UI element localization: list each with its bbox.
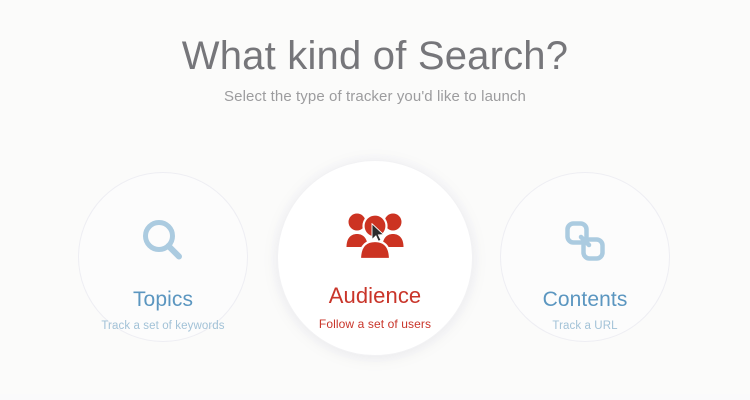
option-card-topics[interactable]: Topics Track a set of keywords [78, 172, 248, 342]
option-card-subtitle: Track a set of keywords [101, 321, 224, 333]
link-chain-icon [560, 205, 610, 277]
option-card-title: Audience [329, 285, 422, 307]
option-card-contents[interactable]: Contents Track a URL [500, 172, 670, 342]
option-card-subtitle: Follow a set of users [319, 318, 431, 330]
page-title: What kind of Search? [0, 34, 750, 78]
header: What kind of Search? Select the type of … [0, 34, 750, 105]
search-icon [137, 205, 189, 277]
search-type-chooser-screen: What kind of Search? Select the type of … [0, 0, 750, 400]
bottom-edge-strip [0, 394, 750, 400]
option-card-audience[interactable]: Audience Follow a set of users [277, 160, 473, 356]
page-subtitle: Select the type of tracker you'd like to… [0, 88, 750, 105]
tracker-type-options: Topics Track a set of keywords [0, 160, 750, 360]
option-card-subtitle: Track a URL [552, 321, 617, 333]
users-group-icon [344, 197, 406, 273]
option-card-title: Contents [543, 289, 628, 310]
option-card-title: Topics [133, 289, 193, 310]
